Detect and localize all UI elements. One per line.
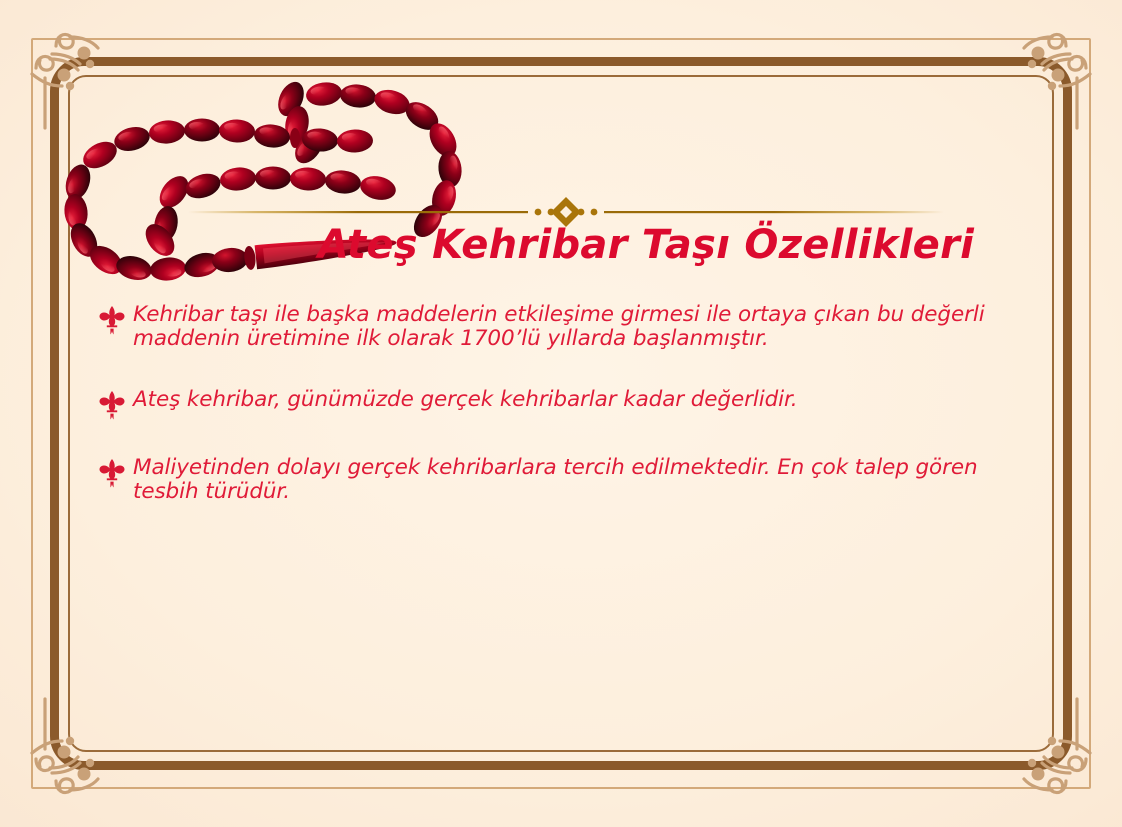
list-item-text: Kehribar taşı ile başka maddelerin etkil… <box>133 303 1029 352</box>
list-item: Ateş kehribar, günümüzde gerçek kehribar… <box>99 388 1029 420</box>
list-item-text: Maliyetinden dolayı gerçek kehribarlara … <box>133 456 1029 505</box>
fleur-de-lis-bullet-icon <box>99 390 125 420</box>
fleur-de-lis-bullet-icon <box>99 305 125 335</box>
features-list: Kehribar taşı ile başka maddelerin etkil… <box>99 303 1029 532</box>
corner-flourish-bottom-left-icon <box>12 697 130 815</box>
corner-flourish-top-right-icon <box>992 12 1110 130</box>
fleur-de-lis-bullet-icon <box>99 458 125 488</box>
corner-flourish-bottom-right-icon <box>992 697 1110 815</box>
list-item-text: Ateş kehribar, günümüzde gerçek kehribar… <box>133 388 1029 412</box>
decorative-info-card: Ateş Kehribar Taşı Özellikleri Kehribar … <box>0 0 1122 827</box>
list-item: Kehribar taşı ile başka maddelerin etkil… <box>99 303 1029 352</box>
page-title: Ateş Kehribar Taşı Özellikleri <box>0 222 1122 268</box>
list-item: Maliyetinden dolayı gerçek kehribarlara … <box>99 456 1029 505</box>
